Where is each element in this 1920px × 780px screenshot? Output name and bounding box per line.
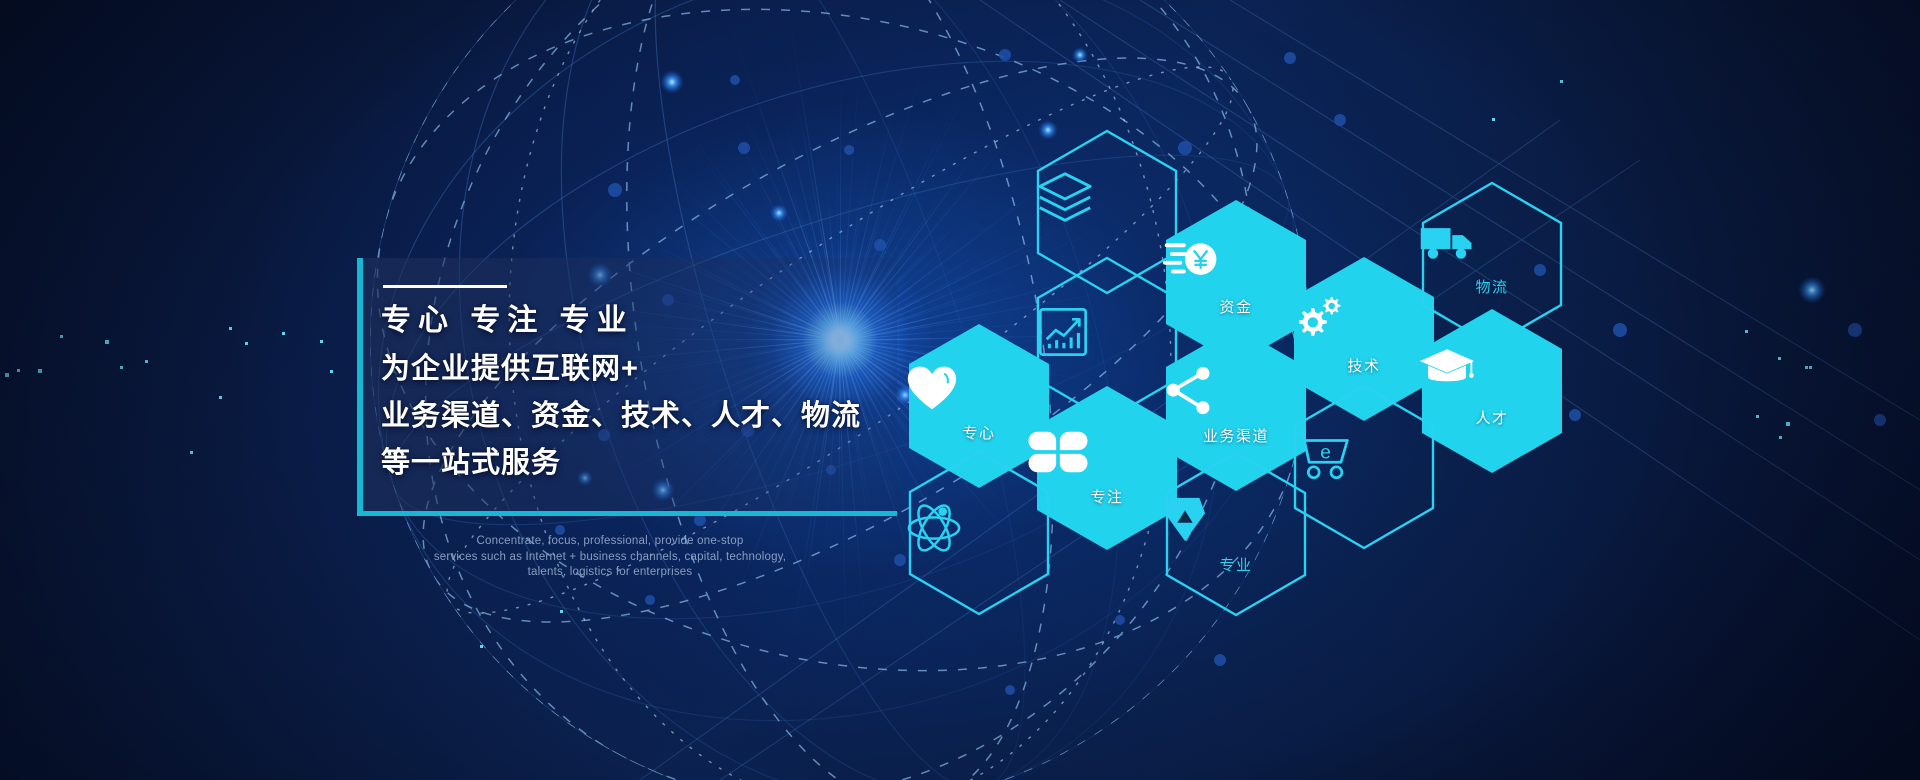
hex-talents-label: 人才: [1419, 407, 1565, 428]
hex-capital-label: 资金: [1163, 296, 1309, 317]
hex-ecommerce[interactable]: e: [1291, 383, 1437, 551]
hex-professional-label: 专业: [1163, 554, 1309, 575]
hex-tech-label: 技术: [1291, 355, 1437, 376]
hex-atom[interactable]: [906, 449, 1052, 617]
hex-focus-label: 专注: [1034, 486, 1180, 507]
svg-text:e: e: [1320, 443, 1331, 464]
hex-professional[interactable]: 专业: [1163, 450, 1309, 618]
hex-focus[interactable]: 专注: [1034, 384, 1180, 552]
hexagon-grid: 资金 技术: [0, 0, 1920, 780]
hex-talents[interactable]: 人才: [1419, 307, 1565, 475]
banner-stage: 专心 专注 专业 为企业提供互联网+ 业务渠道、资金、技术、人才、物流 等一站式…: [0, 0, 1920, 780]
hex-channels-label: 业务渠道: [1163, 425, 1309, 446]
hex-logistics-label: 物流: [1419, 276, 1565, 297]
